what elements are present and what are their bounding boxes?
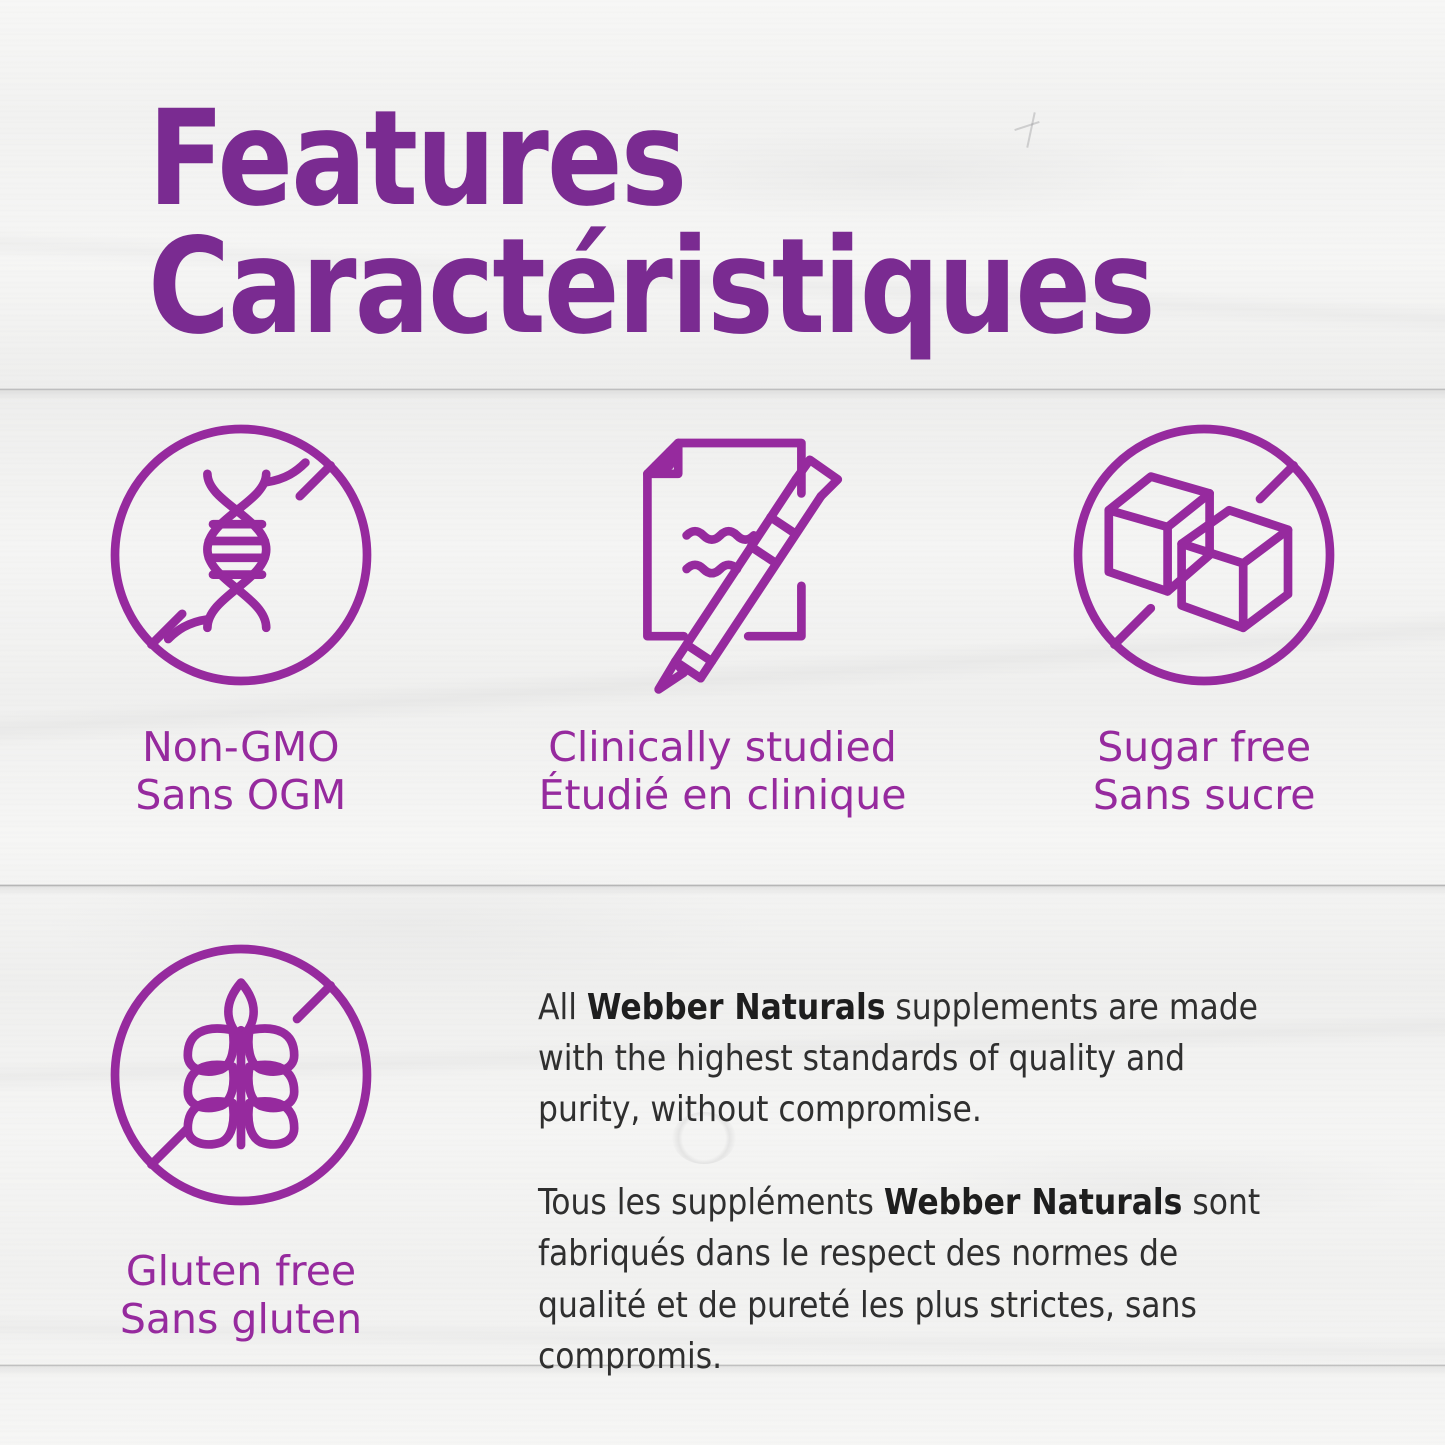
paragraph-fr-before: Tous les suppléments xyxy=(538,1182,884,1223)
feature-labels: Gluten free Sans gluten xyxy=(120,1248,362,1343)
feature-label-en: Non-GMO xyxy=(135,724,346,772)
feature-label-en: Clinically studied xyxy=(539,724,907,772)
feature-row: Non-GMO Sans OGM xyxy=(0,410,1445,819)
feature-sugar-free: Sugar free Sans sucre xyxy=(963,410,1445,819)
feature-label-fr: Étudié en clinique xyxy=(539,772,907,820)
no-gmo-dna-icon xyxy=(96,410,386,700)
no-gluten-wheat-icon xyxy=(96,930,386,1220)
no-sugar-cubes-icon xyxy=(1059,410,1349,700)
paragraph-en-before: All xyxy=(538,987,587,1028)
feature-panel: Features Caractéristiques xyxy=(0,0,1445,1445)
feature-gluten-free: Gluten free Sans gluten xyxy=(0,930,482,1343)
feature-labels: Clinically studied Étudié en clinique xyxy=(539,724,907,819)
brand-name-fr: Webber Naturals xyxy=(884,1182,1183,1223)
feature-labels: Non-GMO Sans OGM xyxy=(135,724,346,819)
feature-non-gmo: Non-GMO Sans OGM xyxy=(0,410,482,819)
feature-label-en: Gluten free xyxy=(120,1248,362,1296)
feature-label-en: Sugar free xyxy=(1093,724,1316,772)
paragraph-english: All Webber Naturals supplements are made… xyxy=(538,982,1295,1135)
description-block: All Webber Naturals supplements are made… xyxy=(538,982,1318,1424)
feature-label-fr: Sans OGM xyxy=(135,772,346,820)
feature-label-fr: Sans sucre xyxy=(1093,772,1316,820)
page-title: Features Caractéristiques xyxy=(148,95,1218,351)
feature-label-fr: Sans gluten xyxy=(120,1296,362,1344)
brand-name-en: Webber Naturals xyxy=(587,987,886,1028)
paragraph-french: Tous les suppléments Webber Naturals son… xyxy=(538,1177,1295,1381)
title-french: Caractéristiques xyxy=(148,223,1154,351)
feature-labels: Sugar free Sans sucre xyxy=(1093,724,1316,819)
title-english: Features xyxy=(148,95,1154,223)
feature-clinically-studied: Clinically studied Étudié en clinique xyxy=(482,410,964,819)
clipboard-pen-icon xyxy=(578,410,868,700)
